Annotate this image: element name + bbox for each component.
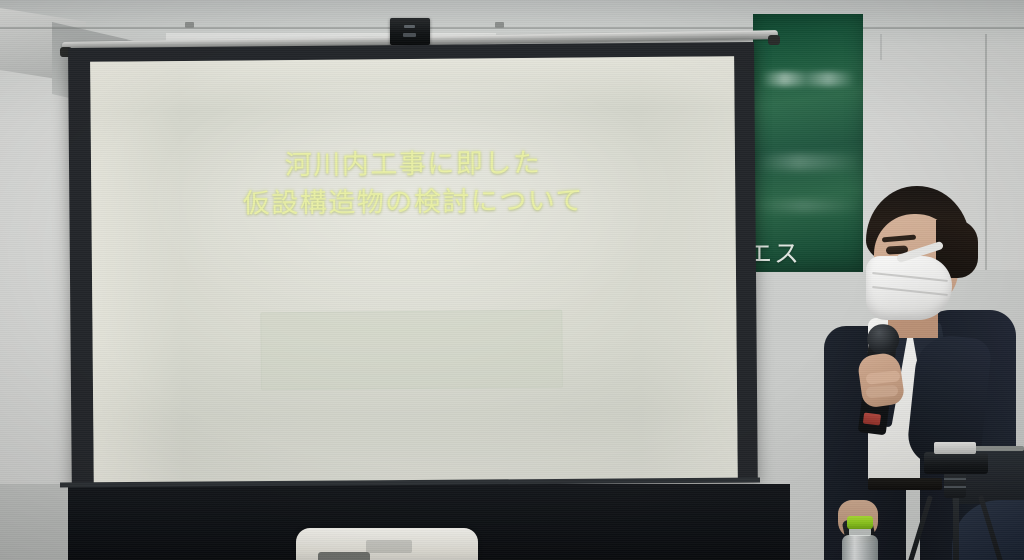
- tripod-leg: [901, 495, 933, 560]
- projection-surface: 河川内工事に即した 仮設構造物の検討について: [90, 56, 738, 485]
- bottle-cap: [847, 516, 873, 529]
- face-mask-icon: [866, 256, 952, 320]
- water-bottle-icon: [840, 516, 880, 560]
- camera-sensor-icon: [390, 18, 430, 45]
- video-camera-icon: [924, 452, 988, 474]
- wall-seam: [880, 34, 882, 60]
- ceiling-seam-line: [0, 27, 1024, 29]
- ceiling-clip-icon: [495, 22, 504, 28]
- sign-glare: [761, 72, 855, 86]
- mask-pleat: [872, 286, 948, 296]
- stage-left-wall: [0, 484, 68, 560]
- finger: [866, 385, 899, 398]
- mask-pleat: [872, 272, 948, 282]
- presentation-room-photo: エス 河川内工事に即した 仮設構造物の検討について: [0, 0, 1024, 560]
- projector-label: [366, 540, 412, 553]
- camera-top-plate: [934, 442, 976, 454]
- tripod-leg: [978, 495, 1010, 560]
- camera-tripod-icon: [906, 430, 1010, 560]
- projector-lens-icon: [318, 552, 370, 560]
- tripod-head-detail: [944, 478, 966, 480]
- microphone-badge: [863, 413, 881, 426]
- sensor-lens-icon: [404, 25, 415, 28]
- screen-vignette: [90, 56, 738, 485]
- bottle-body: [842, 535, 878, 560]
- tripod-leg: [953, 496, 959, 560]
- projection-screen-frame: 河川内工事に即した 仮設構造物の検討について: [68, 42, 758, 488]
- ceiling-clip-icon: [185, 22, 194, 28]
- tripod-head-detail: [944, 486, 966, 488]
- rail-end-cap: [768, 35, 780, 45]
- bottle-neck: [849, 528, 871, 536]
- tripod-head: [944, 472, 966, 498]
- sensor-vent-icon: [403, 33, 416, 37]
- sign-glare: [755, 154, 863, 170]
